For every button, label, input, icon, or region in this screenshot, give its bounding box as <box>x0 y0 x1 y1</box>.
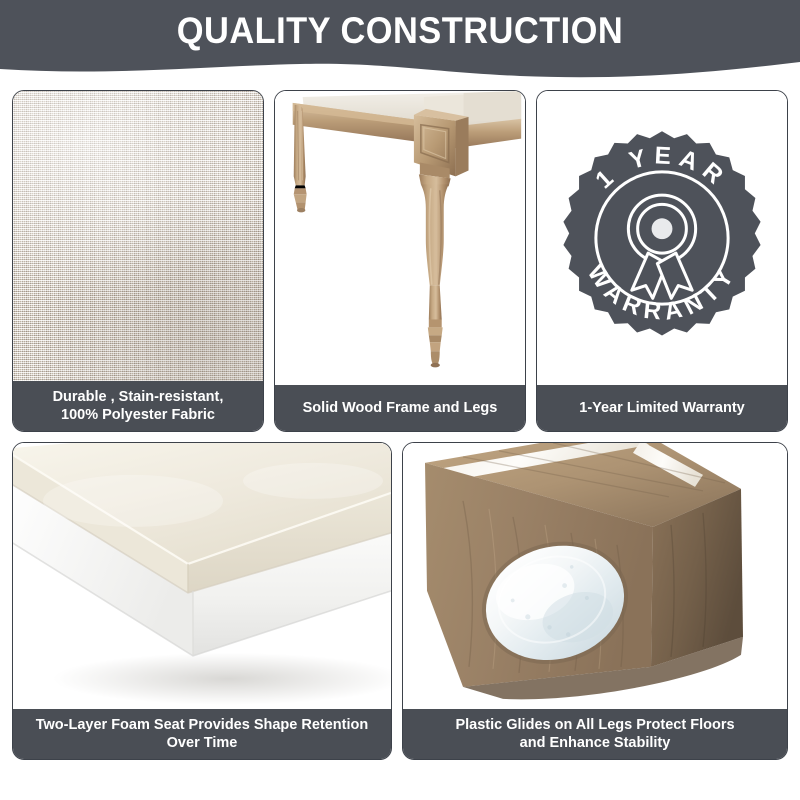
feature-caption-fabric: Durable , Stain-resistant, 100% Polyeste… <box>13 381 263 431</box>
plastic-glide-image <box>403 443 787 709</box>
caption-line-1: Durable , Stain-resistant, <box>53 388 224 406</box>
fabric-sheen-overlay <box>13 91 263 381</box>
feature-caption-warranty: 1-Year Limited Warranty <box>537 385 787 431</box>
warranty-badge: 1 YEAR WARRANTY <box>537 91 787 385</box>
feature-caption-glides: Plastic Glides on All Legs Protect Floor… <box>403 709 787 759</box>
caption-line-2: Over Time <box>36 734 369 752</box>
feature-grid: Durable , Stain-resistant, 100% Polyeste… <box>12 90 788 790</box>
foam-illustration <box>13 443 391 709</box>
caption-line-2: 100% Polyester Fabric <box>53 406 224 424</box>
wood-legs-image <box>275 91 525 385</box>
feature-caption-wood: Solid Wood Frame and Legs <box>275 385 525 431</box>
caption-line-1: Two-Layer Foam Seat Provides Shape Reten… <box>36 716 369 734</box>
feature-caption-foam: Two-Layer Foam Seat Provides Shape Reten… <box>13 709 391 759</box>
warranty-badge-image: 1 YEAR WARRANTY <box>537 91 787 385</box>
glide-illustration <box>403 443 787 709</box>
page-title: QUALITY CONSTRUCTION <box>28 10 772 52</box>
caption-line-1: 1-Year Limited Warranty <box>579 399 744 417</box>
fabric-swatch-image <box>13 91 263 381</box>
caption-line-2: and Enhance Stability <box>455 734 734 752</box>
feature-card-fabric[interactable]: Durable , Stain-resistant, 100% Polyeste… <box>12 90 264 432</box>
feature-card-wood[interactable]: Solid Wood Frame and Legs <box>274 90 526 432</box>
caption-line-1: Plastic Glides on All Legs Protect Floor… <box>455 716 734 734</box>
warranty-seal-icon: 1 YEAR WARRANTY <box>546 122 778 354</box>
feature-card-glides[interactable]: Plastic Glides on All Legs Protect Floor… <box>402 442 788 760</box>
feature-card-warranty[interactable]: 1 YEAR WARRANTY 1-Year Limited Warranty <box>536 90 788 432</box>
caption-line-1: Solid Wood Frame and Legs <box>303 399 498 417</box>
wood-legs-illustration <box>275 91 525 385</box>
header-banner: QUALITY CONSTRUCTION <box>0 0 800 92</box>
feature-card-foam[interactable]: Two-Layer Foam Seat Provides Shape Reten… <box>12 442 392 760</box>
foam-seat-image <box>13 443 391 709</box>
